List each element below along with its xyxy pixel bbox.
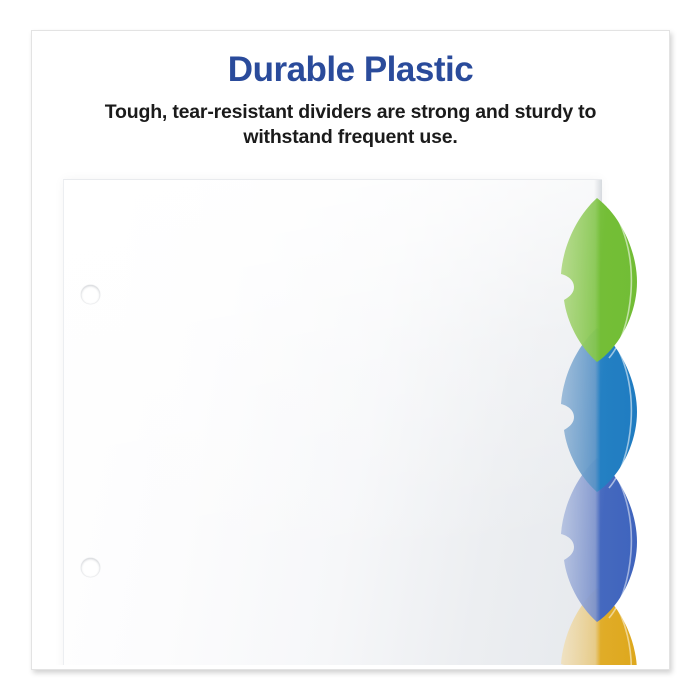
card-bottom-edge — [32, 665, 670, 670]
divider-sheet — [63, 179, 602, 670]
punch-hole-bottom — [81, 558, 100, 577]
punch-hole-top — [81, 285, 100, 304]
product-card: Durable Plastic Tough, tear-resistant di… — [31, 30, 670, 670]
sheet-sheen — [64, 180, 602, 670]
tab-green[interactable] — [549, 196, 645, 364]
divider-product-image — [32, 31, 670, 670]
